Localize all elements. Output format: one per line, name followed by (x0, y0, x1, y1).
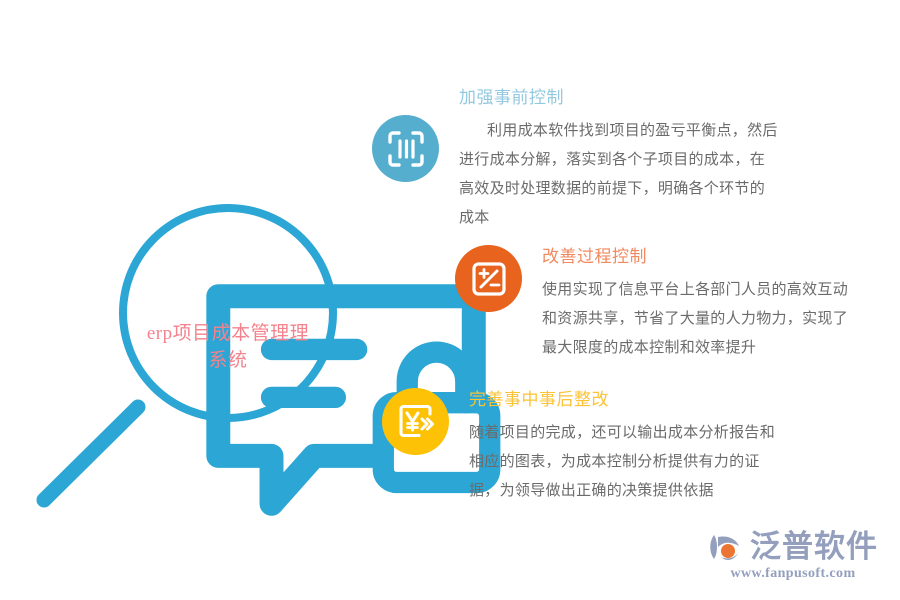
scan-barcode-icon (372, 115, 439, 182)
feature-block-2: 改善过程控制 使用实现了信息平台上各部门人员的高效互动和资源共享，节省了大量的人… (455, 245, 862, 362)
feature-body-2: 使用实现了信息平台上各部门人员的高效互动和资源共享，节省了大量的人力物力，实现了… (542, 275, 862, 362)
feature-text-1: 加强事前控制 利用成本软件找到项目的盈亏平衡点，然后进行成本分解，落实到各个子项… (459, 86, 779, 232)
feature-heading-2: 改善过程控制 (542, 245, 862, 269)
magnifier-graphic: erp项目成本管理理系统 (18, 195, 348, 515)
feature-body-3: 随着项目的完成，还可以输出成本分析报告和相应的图表，为成本控制分析提供有力的证据… (469, 418, 789, 505)
system-title: erp项目成本管理理系统 (142, 320, 314, 374)
logo-company-name: 泛普软件 (750, 530, 878, 564)
feature-body-1: 利用成本软件找到项目的盈亏平衡点，然后进行成本分解，落实到各个子项目的成本，在高… (459, 116, 779, 232)
plus-minus-calculator-icon (455, 245, 522, 312)
feature-text-3: 完善事中事后整改 随着项目的完成，还可以输出成本分析报告和相应的图表，为成本控制… (469, 388, 789, 505)
logo-website-url: www.fanpusoft.com (730, 566, 855, 582)
infographic-canvas: erp项目成本管理理系统 加强事前控制 利用成本软件找到项目的盈亏平衡点，然后进… (0, 0, 900, 600)
yuan-forward-icon (382, 388, 449, 455)
fanpu-logo-mark (708, 529, 744, 565)
chat-bubble-lock-icon (197, 248, 259, 298)
feature-heading-3: 完善事中事后整改 (469, 388, 789, 412)
feature-block-3: 完善事中事后整改 随着项目的完成，还可以输出成本分析报告和相应的图表，为成本控制… (382, 388, 789, 505)
feature-text-2: 改善过程控制 使用实现了信息平台上各部门人员的高效互动和资源共享，节省了大量的人… (542, 245, 862, 362)
magnifier-content: erp项目成本管理理系统 (120, 205, 336, 421)
brand-watermark: 泛普软件 www.fanpusoft.com (708, 529, 878, 582)
feature-block-1: 加强事前控制 利用成本软件找到项目的盈亏平衡点，然后进行成本分解，落实到各个子项… (372, 86, 779, 232)
logo-row: 泛普软件 (708, 529, 878, 565)
feature-heading-1: 加强事前控制 (459, 86, 779, 110)
